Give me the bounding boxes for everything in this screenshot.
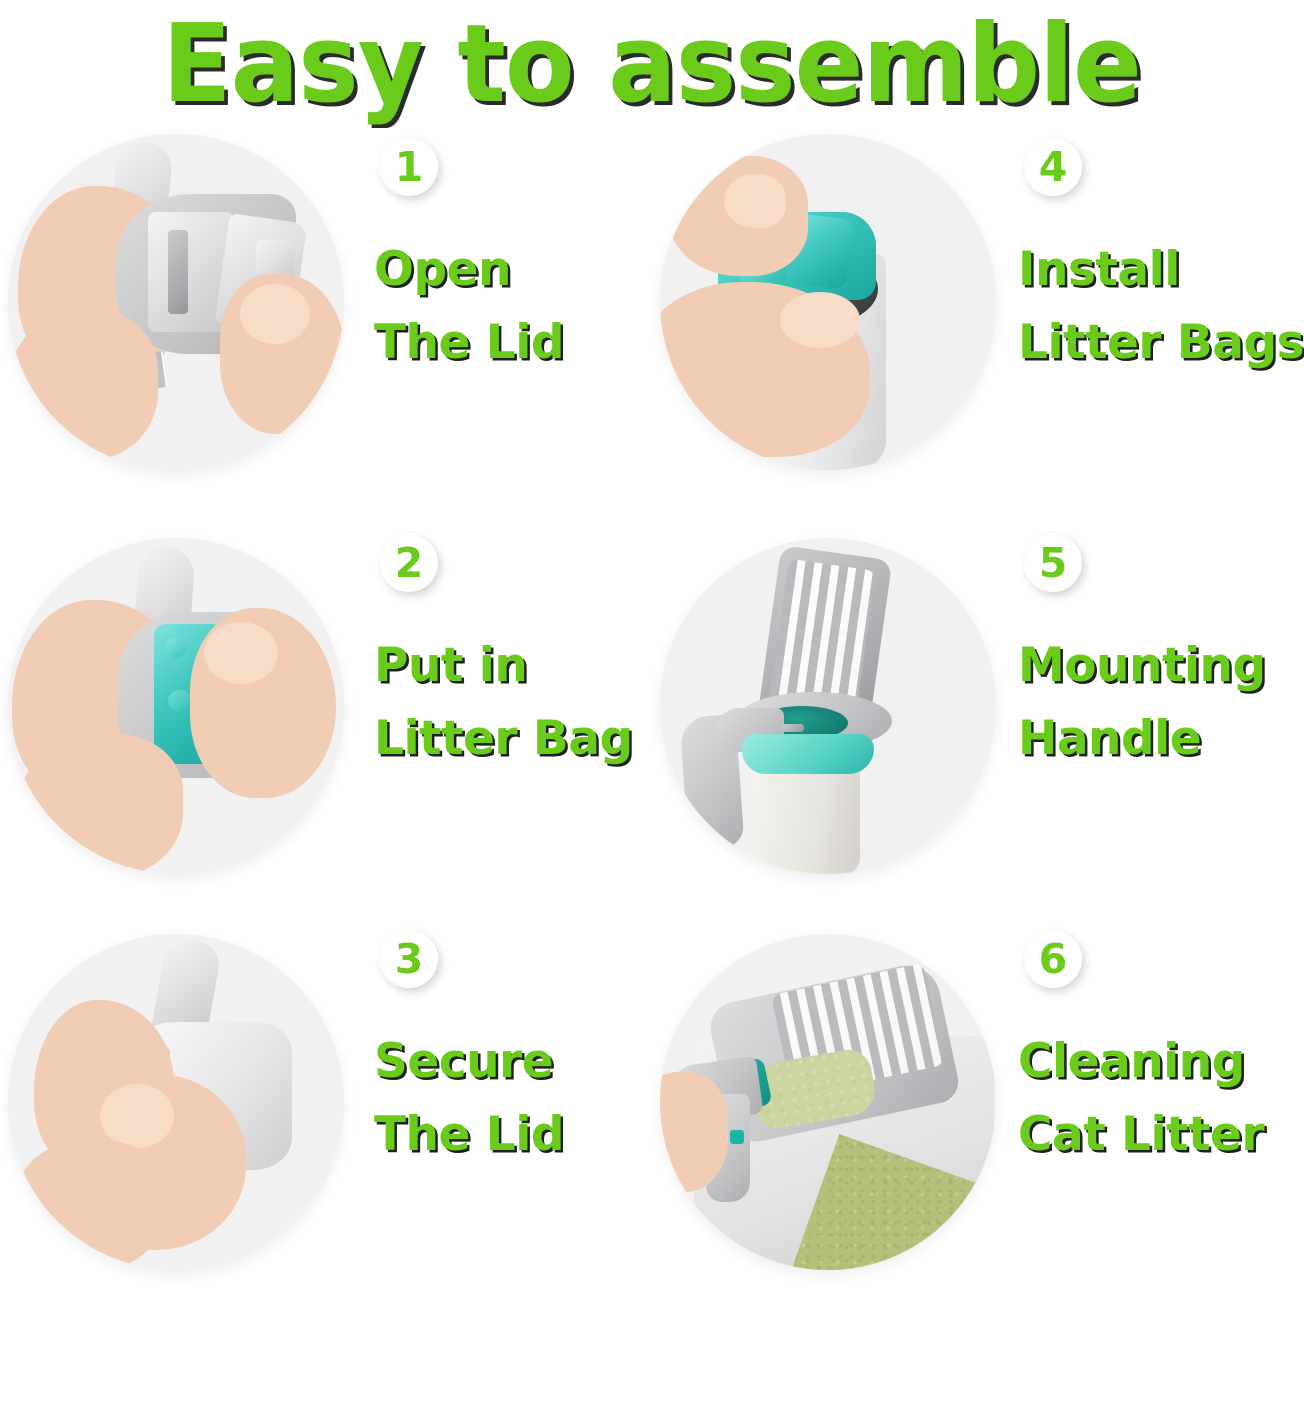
photo-open-the-lid: [8, 134, 344, 470]
step-2-caption: 2 Put in Litter Bag: [344, 526, 652, 776]
photo-put-in-litter-bag: [8, 538, 344, 874]
step-4: 4 Install Litter Bags: [652, 130, 1304, 526]
step-5-number-badge: 5: [1024, 534, 1082, 592]
step-6-number-badge: 6: [1024, 930, 1082, 988]
step-1-label-line2: The Lid: [374, 307, 652, 380]
step-3: 3 Secure The Lid: [0, 922, 652, 1320]
page-header: Easy to assemble: [0, 0, 1304, 130]
assembly-steps-grid: 1 Open The Lid 4 Install: [0, 130, 1304, 1320]
step-6: 6 Cleaning Cat Litter: [652, 922, 1304, 1320]
step-1-caption: 1 Open The Lid: [344, 130, 652, 380]
step-1: 1 Open The Lid: [0, 130, 652, 526]
step-3-caption: 3 Secure The Lid: [344, 922, 652, 1172]
step-2-label-line1: Put in: [374, 630, 652, 703]
step-4-label: Install Litter Bags: [1018, 234, 1304, 380]
step-3-number-badge: 3: [380, 930, 438, 988]
step-4-label-line2: Litter Bags: [1018, 307, 1304, 380]
step-2: 2 Put in Litter Bag: [0, 526, 652, 922]
step-6-caption: 6 Cleaning Cat Litter: [996, 922, 1304, 1172]
step-5-label-line2: Handle: [1018, 703, 1304, 776]
step-4-caption: 4 Install Litter Bags: [996, 130, 1304, 380]
step-4-number-badge: 4: [1024, 138, 1082, 196]
step-1-number-badge: 1: [380, 138, 438, 196]
step-2-label-line2: Litter Bag: [374, 703, 652, 776]
step-3-label-line2: The Lid: [374, 1099, 652, 1172]
photo-cleaning-cat-litter: [660, 934, 996, 1270]
step-6-label-line1: Cleaning: [1018, 1026, 1304, 1099]
photo-install-litter-bags: [660, 134, 996, 470]
step-6-label-line2: Cat Litter: [1018, 1099, 1304, 1172]
photo-mounting-handle: [660, 538, 996, 874]
step-3-label: Secure The Lid: [374, 1026, 652, 1172]
step-1-label-line1: Open: [374, 234, 652, 307]
step-5-label: Mounting Handle: [1018, 630, 1304, 776]
step-5: 5 Mounting Handle: [652, 526, 1304, 922]
step-2-number-badge: 2: [380, 534, 438, 592]
step-6-label: Cleaning Cat Litter: [1018, 1026, 1304, 1172]
page-title: Easy to assemble: [163, 8, 1142, 121]
photo-secure-the-lid: [8, 934, 344, 1270]
step-5-caption: 5 Mounting Handle: [996, 526, 1304, 776]
step-1-label: Open The Lid: [374, 234, 652, 380]
step-4-label-line1: Install: [1018, 234, 1304, 307]
step-3-label-line1: Secure: [374, 1026, 652, 1099]
step-2-label: Put in Litter Bag: [374, 630, 652, 776]
step-5-label-line1: Mounting: [1018, 630, 1304, 703]
